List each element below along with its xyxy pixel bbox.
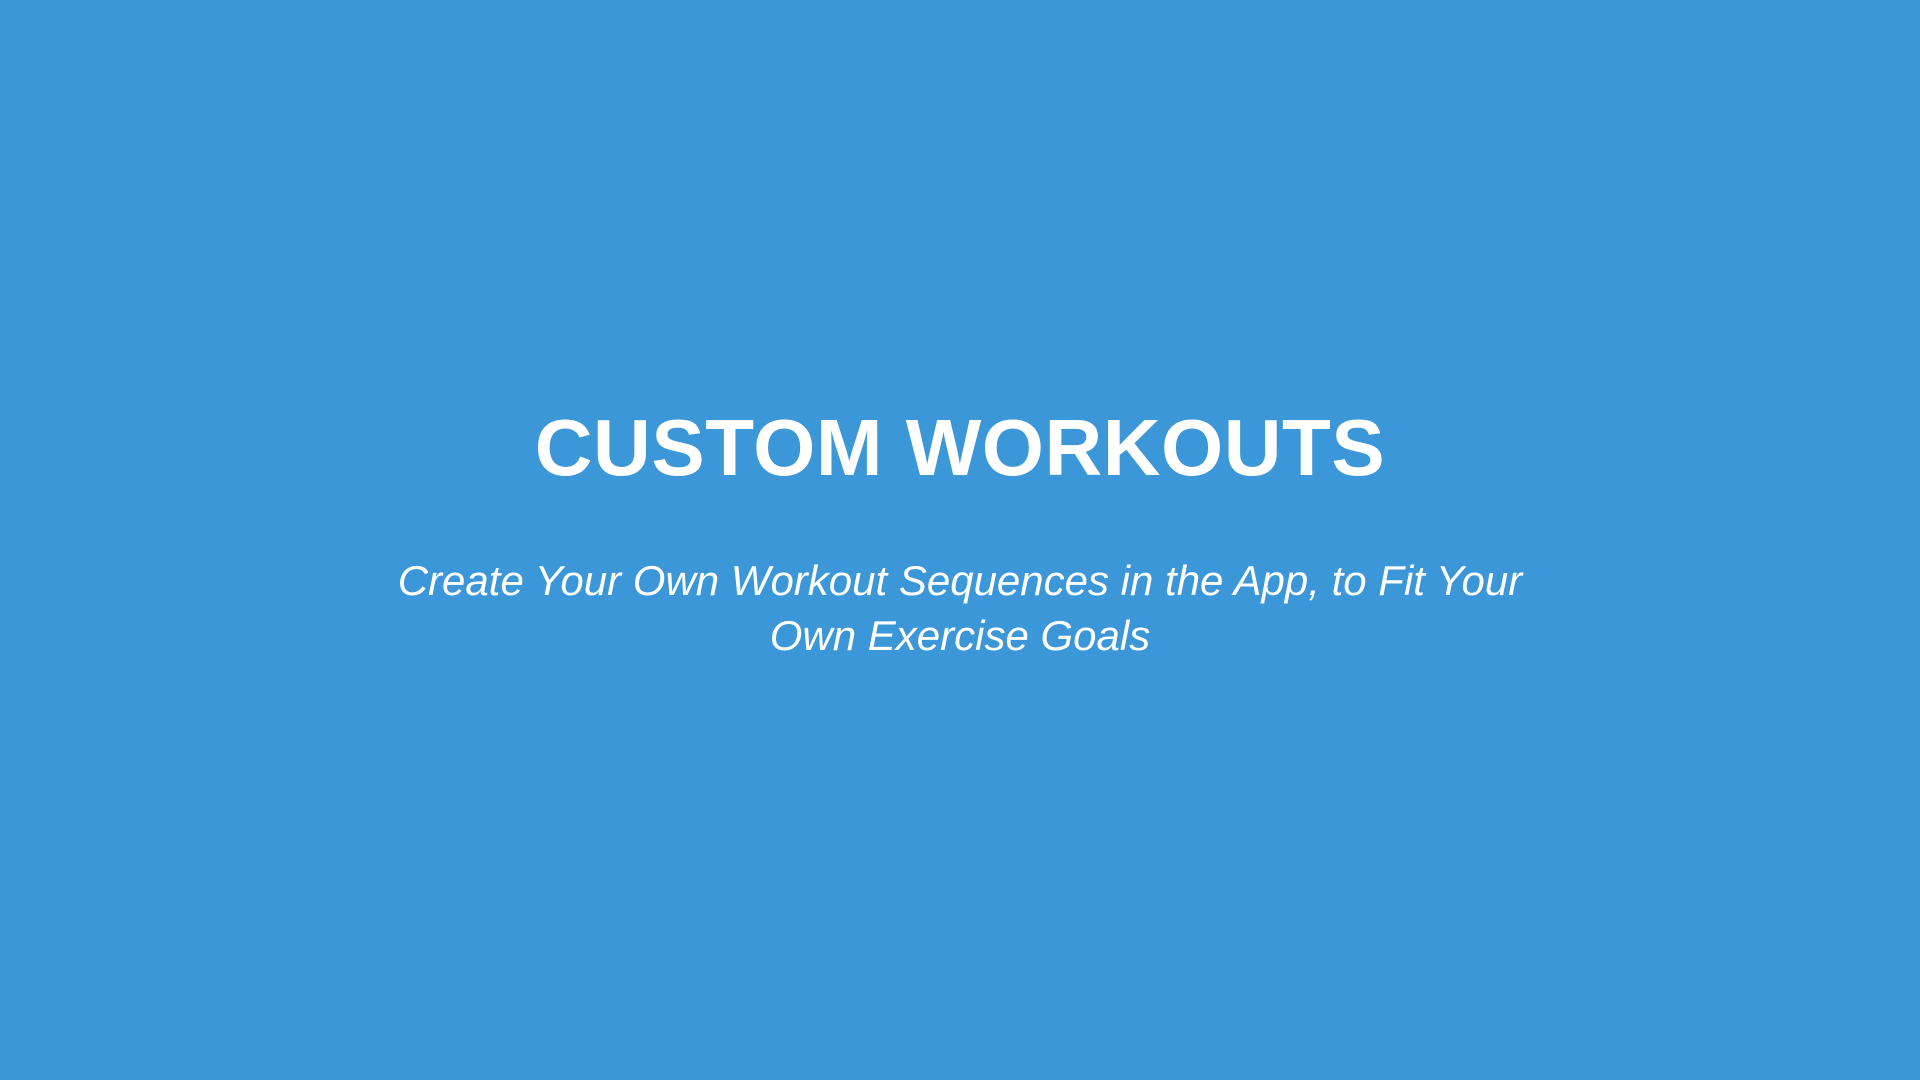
- title-subtitle-spacer: [350, 496, 1570, 553]
- slide-subtitle: Create Your Own Workout Sequences in the…: [350, 553, 1570, 663]
- page-title: CUSTOM WORKOUTS: [350, 400, 1570, 496]
- slide-canvas: CUSTOM WORKOUTS Create Your Own Workout …: [0, 0, 1920, 1080]
- slide-content-block: CUSTOM WORKOUTS Create Your Own Workout …: [350, 400, 1570, 663]
